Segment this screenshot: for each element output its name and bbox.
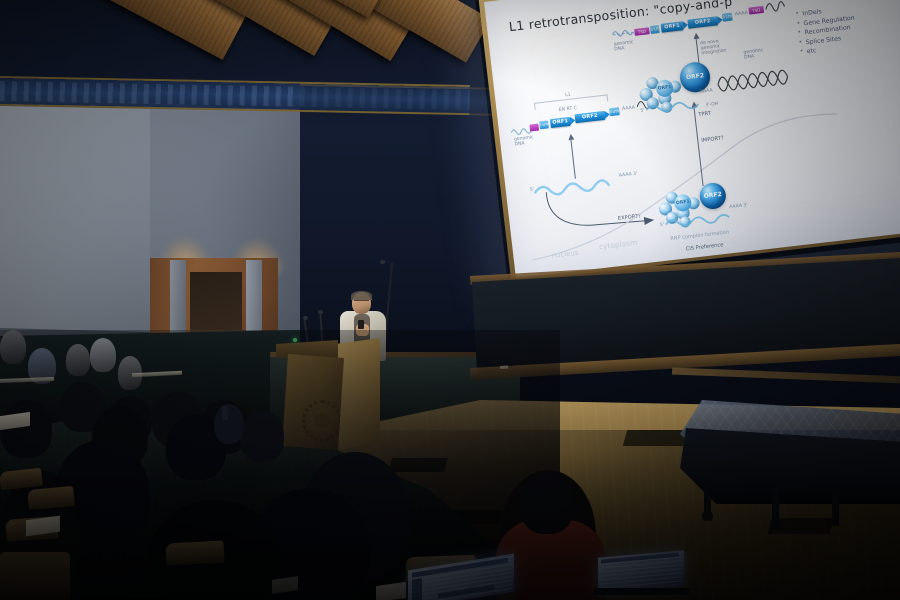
left-utr5: 5'UTR (539, 120, 549, 129)
de-novo-label: de novo genomic integration (700, 38, 732, 56)
audience-member (0, 330, 26, 364)
audience-member (90, 338, 116, 372)
three-prime-oh-label: 3'-OH (705, 102, 719, 108)
rnp-complex-cytoplasm: ORF1 ORF2 5' AAAA 3' (655, 179, 750, 235)
audience-member-head (520, 472, 574, 534)
audience-member-raised-hand (214, 404, 244, 444)
top-orf2: ORF2 (687, 16, 718, 28)
rnp-polya: AAAA 3' (729, 203, 748, 210)
speaker-glasses (354, 300, 369, 304)
tprt-polya: AAAA (700, 88, 713, 94)
left-polya: AAAA (622, 105, 635, 111)
microphone-head-right (318, 310, 323, 314)
piano-caster (702, 512, 713, 521)
left-orf1: ORF1 (550, 117, 571, 128)
left-wall-upper-highlight (0, 92, 150, 342)
theater-seat (0, 552, 70, 600)
theater-seat-arm (27, 486, 75, 510)
left-utr3: 3'UTR (609, 107, 620, 116)
left-tsd (529, 124, 539, 132)
grand-piano (680, 386, 900, 536)
laptop-base (593, 588, 692, 595)
left-genomic-dna-label: genomic DNA (514, 135, 535, 147)
piano-caster (770, 520, 781, 529)
audience-member (240, 410, 284, 462)
rnp-five-prime: 5' (660, 223, 665, 228)
left-orf2: ORF2 (575, 111, 606, 123)
projection-screen: L1 retrotransposition: "copy-and-p InDel… (484, 0, 900, 278)
top-genomic-dna-label: genomic DNA (613, 40, 636, 52)
top-polya: AAAA (735, 11, 748, 17)
en-rt-c-label: EN RT C (559, 106, 578, 113)
microphone-head-left (303, 316, 308, 320)
handout-paper (376, 582, 406, 600)
top-utr3: 3'UTR (722, 13, 733, 22)
wall-frieze-band-right (300, 86, 500, 114)
piano-leg (704, 478, 711, 514)
piano-leg (832, 490, 839, 526)
top-utr5: 5'UTR (650, 25, 660, 34)
top-right-squiggle (764, 0, 790, 21)
laptop-left (408, 562, 514, 600)
top-tsd-left: TSD (634, 27, 650, 36)
speaker-hair (351, 291, 372, 300)
laptop-right (598, 554, 684, 590)
piano-leg (772, 486, 779, 522)
presentation-remote (358, 320, 364, 329)
phone-device (222, 406, 228, 420)
l1-bracket-label: L1 (565, 93, 571, 99)
presentation-slide: L1 retrotransposition: "copy-and-p InDel… (484, 0, 900, 278)
theater-seat-arm (165, 540, 224, 565)
audience-member (66, 344, 90, 376)
microphone-head-side (380, 260, 385, 264)
top-orf1: ORF1 (661, 21, 684, 32)
tprt-five-prime: 5' (640, 108, 645, 113)
laptop-sidebar (412, 578, 422, 600)
lecture-hall-photo: L1 retrotransposition: "copy-and-p InDel… (0, 0, 900, 600)
